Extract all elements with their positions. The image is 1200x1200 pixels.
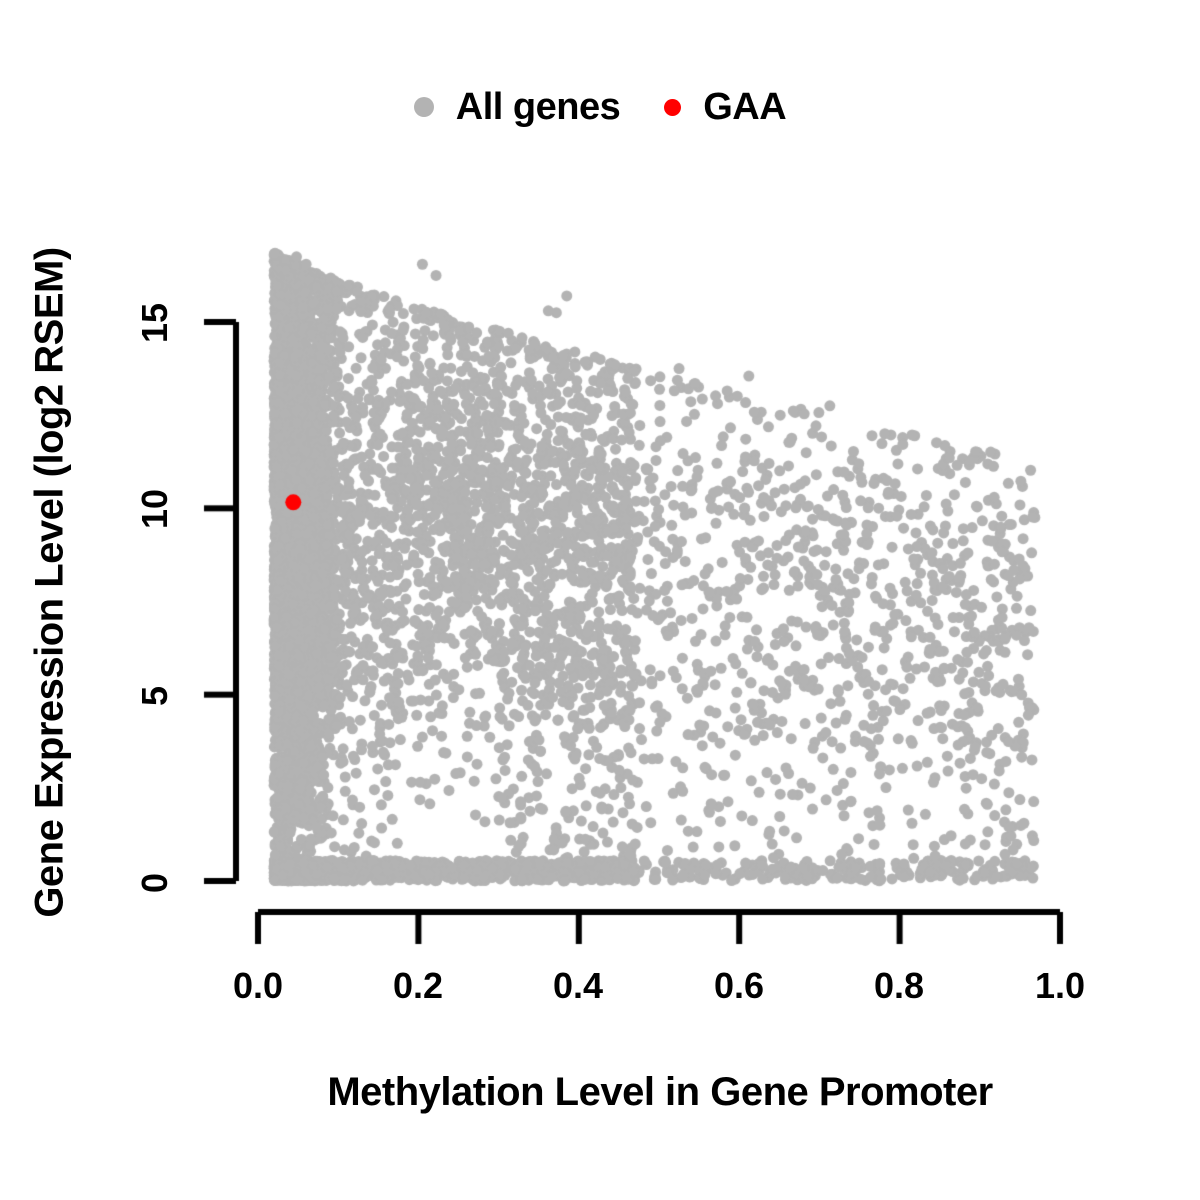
legend-marker-gaa-icon <box>664 99 681 116</box>
x-tick-label-2: 0.4 <box>518 965 638 1007</box>
x-tick-label-0: 0.0 <box>198 965 318 1007</box>
scatter-plot-figure: All genes GAA 0.0 0.2 0.4 0.6 0.8 1.0 0 … <box>0 0 1200 1200</box>
x-axis-title: Methylation Level in Gene Promoter <box>140 1070 1180 1115</box>
x-tick-label-3: 0.6 <box>679 965 799 1007</box>
x-tick-label-5: 1.0 <box>1000 965 1120 1007</box>
x-tick-label-1: 0.2 <box>358 965 478 1007</box>
legend-label-all-genes: All genes <box>456 86 620 129</box>
legend-label-gaa: GAA <box>703 86 786 129</box>
x-tick-label-4: 0.8 <box>839 965 959 1007</box>
chart-legend: All genes GAA <box>0 78 1200 136</box>
y-axis-title: Gene Expression Level (log2 RSEM) <box>28 163 73 1003</box>
legend-entry-gaa: GAA <box>664 86 786 129</box>
y-tick-label-2: 10 <box>134 449 176 569</box>
scatter-plot-canvas <box>0 0 1200 1200</box>
legend-marker-all-genes-icon <box>414 97 434 117</box>
legend-entry-all-genes: All genes <box>414 86 620 129</box>
y-tick-label-1: 5 <box>134 636 176 756</box>
y-tick-label-3: 15 <box>134 263 176 383</box>
y-tick-label-0: 0 <box>134 823 176 943</box>
